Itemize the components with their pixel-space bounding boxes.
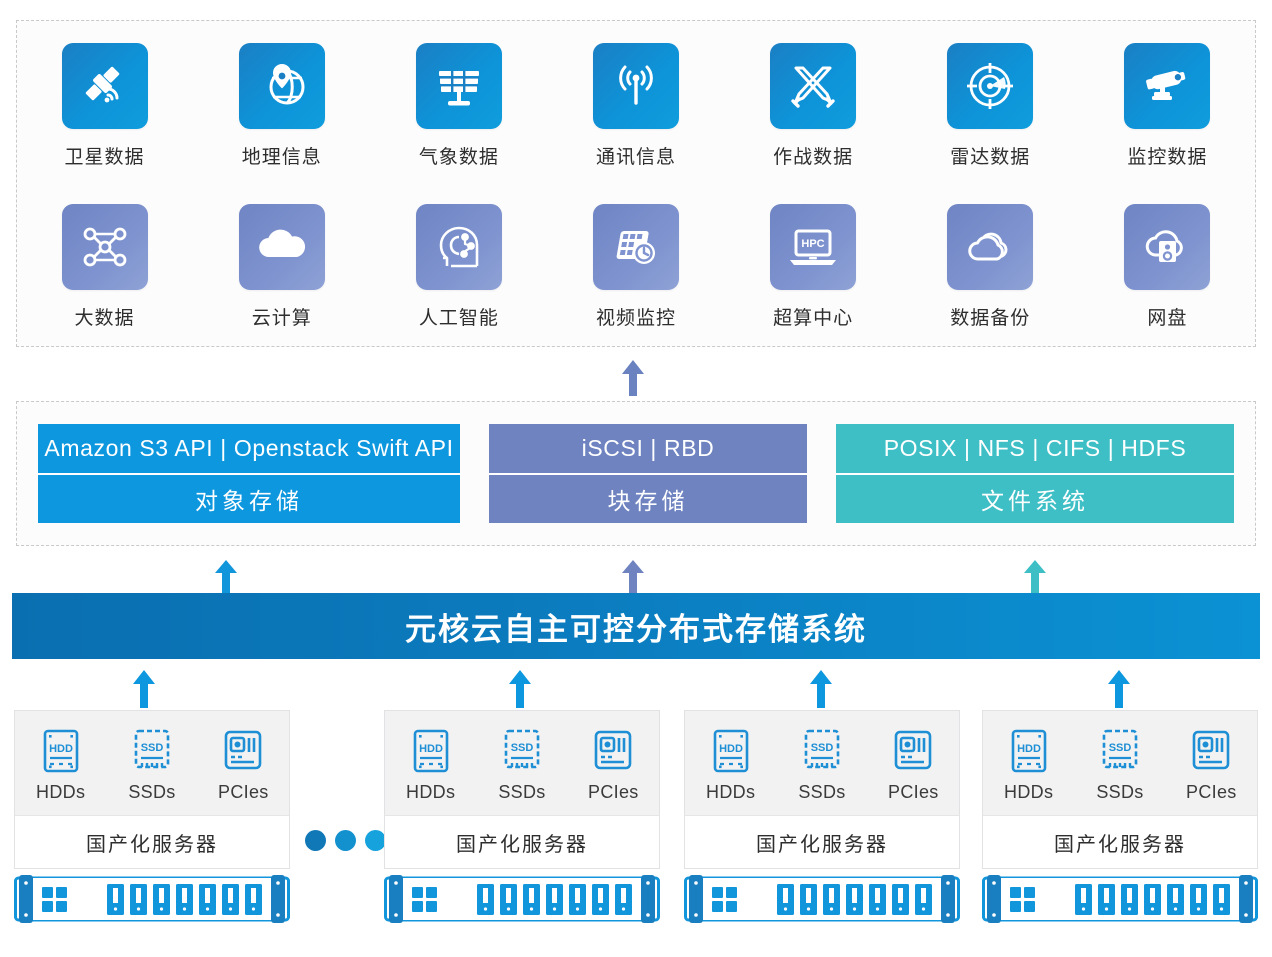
app-label: 地理信息 <box>242 142 322 169</box>
svg-text:HDD: HDD <box>419 743 443 755</box>
app-label: 雷达数据 <box>950 142 1030 169</box>
app-item-combat-data[interactable]: 作战数据 <box>743 43 883 169</box>
app-label: 网盘 <box>1147 303 1187 330</box>
app-item-radar-data[interactable]: 雷达数据 <box>920 43 1060 169</box>
object-storage-name: 对象存储 <box>38 475 460 524</box>
cloud-icon <box>239 204 325 290</box>
cctv-camera-icon <box>1124 43 1210 129</box>
svg-text:SSD: SSD <box>141 742 164 754</box>
server-drives-panel: HDD HDDs SSD SSDs <box>14 710 290 815</box>
drive-hdds: HDD HDDs <box>992 727 1066 803</box>
drive-pcies: PCIes <box>206 727 280 803</box>
application-icon-grid: 卫星数据 地理信息 <box>16 20 1256 347</box>
app-label: 监控数据 <box>1127 142 1207 169</box>
app-item-communication-information[interactable]: 通讯信息 <box>566 43 706 169</box>
app-item-surveillance-data[interactable]: 监控数据 <box>1097 43 1237 169</box>
drive-ssds: SSD SSDs <box>785 727 859 803</box>
app-item-big-data[interactable]: 大数据 <box>35 204 175 330</box>
file-system-apis: POSIX | NFS | CIFS | HDFS <box>836 424 1234 475</box>
more-servers-ellipsis <box>305 830 386 851</box>
app-label: 云计算 <box>252 303 312 330</box>
app-label: 作战数据 <box>773 142 853 169</box>
double-cloud-icon <box>947 204 1033 290</box>
drive-hdds: HDD HDDs <box>24 727 98 803</box>
block-storage-name: 块存储 <box>489 475 807 524</box>
drive-label: SSDs <box>798 782 845 803</box>
server-rack-unit <box>982 873 1258 930</box>
drive-label: PCIes <box>1186 782 1237 803</box>
app-label: 通讯信息 <box>596 142 676 169</box>
server-node-3[interactable]: HDD HDDs SSD SSDs <box>684 710 960 930</box>
server-name: 国产化服务器 <box>982 815 1258 869</box>
network-nodes-icon <box>62 204 148 290</box>
ai-brain-head-icon <box>416 204 502 290</box>
arrow-server2-to-banner <box>507 670 533 708</box>
cloud-drive-icon <box>1124 204 1210 290</box>
ellipsis-dot <box>365 830 386 851</box>
server-drives-panel: HDD HDDs SSD SSDs <box>982 710 1258 815</box>
file-system-panel[interactable]: POSIX | NFS | CIFS | HDFS 文件系统 <box>836 424 1234 523</box>
hpc-laptop-icon: HPC <box>770 204 856 290</box>
server-drives-panel: HDD HDDs SSD SSDs <box>384 710 660 815</box>
object-storage-panel[interactable]: Amazon S3 API | Openstack Swift API 对象存储 <box>38 424 460 523</box>
svg-text:SSD: SSD <box>1109 742 1132 754</box>
svg-text:SSD: SSD <box>811 742 834 754</box>
app-label: 数据备份 <box>950 303 1030 330</box>
app-label: 卫星数据 <box>65 142 145 169</box>
architecture-diagram: 卫星数据 地理信息 <box>0 0 1272 957</box>
film-strip-clock-icon <box>593 204 679 290</box>
block-storage-panel[interactable]: iSCSI | RBD 块存储 <box>489 424 807 523</box>
drive-ssds: SSD SSDs <box>115 727 189 803</box>
app-item-video-monitoring[interactable]: 视频监控 <box>566 204 706 330</box>
block-storage-apis: iSCSI | RBD <box>489 424 807 475</box>
svg-text:HDD: HDD <box>1017 743 1041 755</box>
satellite-icon <box>62 43 148 129</box>
drive-label: SSDs <box>498 782 545 803</box>
server-name: 国产化服务器 <box>684 815 960 869</box>
app-label: 气象数据 <box>419 142 499 169</box>
drive-ssds: SSD SSDs <box>1083 727 1157 803</box>
app-item-data-backup[interactable]: 数据备份 <box>920 204 1060 330</box>
file-system-name: 文件系统 <box>836 475 1234 524</box>
drive-label: HDDs <box>706 782 755 803</box>
banner-title: 元核云自主可控分布式存储系统 <box>405 604 867 649</box>
app-item-satellite-data[interactable]: 卫星数据 <box>35 43 175 169</box>
server-drives-panel: HDD HDDs SSD SSDs <box>684 710 960 815</box>
drive-label: HDDs <box>406 782 455 803</box>
arrow-object-to-banner <box>213 560 239 594</box>
arrow-file-to-banner <box>1022 560 1048 594</box>
app-item-geographic-information[interactable]: 地理信息 <box>212 43 352 169</box>
server-rack-unit <box>384 873 660 930</box>
storage-system-banner: 元核云自主可控分布式存储系统 <box>12 593 1260 659</box>
arrow-server4-to-banner <box>1106 670 1132 708</box>
ellipsis-dot <box>305 830 326 851</box>
hpc-badge-text: HPC <box>802 238 825 250</box>
drive-hdds: HDD HDDs <box>394 727 468 803</box>
server-name: 国产化服务器 <box>384 815 660 869</box>
svg-text:HDD: HDD <box>719 743 743 755</box>
app-label: 视频监控 <box>596 303 676 330</box>
geo-location-globe-icon <box>239 43 325 129</box>
app-label: 超算中心 <box>773 303 853 330</box>
radar-target-icon <box>947 43 1033 129</box>
drive-label: HDDs <box>36 782 85 803</box>
object-storage-apis: Amazon S3 API | Openstack Swift API <box>38 424 460 475</box>
svg-text:HDD: HDD <box>49 743 73 755</box>
server-rack-unit <box>684 873 960 930</box>
app-item-artificial-intelligence[interactable]: 人工智能 <box>389 204 529 330</box>
app-item-cloud-computing[interactable]: 云计算 <box>212 204 352 330</box>
svg-text:SSD: SSD <box>511 742 534 754</box>
drive-pcies: PCIes <box>576 727 650 803</box>
drive-hdds: HDD HDDs <box>694 727 768 803</box>
arrow-interfaces-to-apps <box>620 360 646 396</box>
arrow-block-to-banner <box>620 560 646 594</box>
app-label: 人工智能 <box>419 303 499 330</box>
drive-label: HDDs <box>1004 782 1053 803</box>
drive-label: SSDs <box>128 782 175 803</box>
server-node-1[interactable]: HDD HDDs SSD SSDs <box>14 710 290 930</box>
drive-label: SSDs <box>1096 782 1143 803</box>
drive-label: PCIes <box>588 782 639 803</box>
server-name: 国产化服务器 <box>14 815 290 869</box>
app-item-supercomputing-center[interactable]: HPC 超算中心 <box>743 204 883 330</box>
arrow-server3-to-banner <box>808 670 834 708</box>
drive-pcies: PCIes <box>876 727 950 803</box>
server-node-2[interactable]: HDD HDDs SSD SSDs <box>384 710 660 930</box>
app-item-network-disk[interactable]: 网盘 <box>1097 204 1237 330</box>
app-label: 大数据 <box>75 303 135 330</box>
crossed-swords-icon <box>770 43 856 129</box>
solar-panel-icon <box>416 43 502 129</box>
arrow-server1-to-banner <box>131 670 157 708</box>
storage-interface-row: Amazon S3 API | Openstack Swift API 对象存储… <box>16 401 1256 546</box>
app-item-meteorological-data[interactable]: 气象数据 <box>389 43 529 169</box>
server-rack-unit <box>14 873 290 930</box>
server-node-4[interactable]: HDD HDDs SSD SSDs <box>982 710 1258 930</box>
ellipsis-dot <box>335 830 356 851</box>
signal-tower-icon <box>593 43 679 129</box>
drive-pcies: PCIes <box>1174 727 1248 803</box>
drive-ssds: SSD SSDs <box>485 727 559 803</box>
drive-label: PCIes <box>888 782 939 803</box>
drive-label: PCIes <box>218 782 269 803</box>
